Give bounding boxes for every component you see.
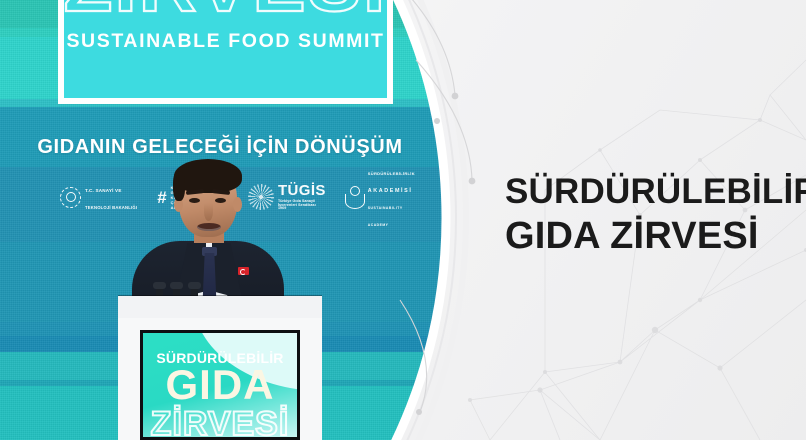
ministry-line-2: TEKNOLOJİ BAKANLIĞI [85, 205, 137, 210]
academy-line-2: AKADEMİSİ [368, 188, 413, 194]
ministry-line-1: T.C. SANAYİ VE [85, 188, 122, 193]
sponsor-logo-sustainability-academy: SÜRDÜRÜLEBİLİRLİK AKADEMİSİ SUSTAINABILI… [344, 163, 415, 230]
backdrop-banner-box: ZİRVESİ SUSTAINABLE FOOD SUMMIT [58, 0, 393, 104]
sponsor-logo-ministry: T.C. SANAYİ VE TEKNOLOJİ BAKANLIĞI [60, 180, 137, 214]
headline-line-2: GIDA ZİRVESİ [505, 215, 795, 258]
podium-top [118, 296, 322, 318]
headline: SÜRDÜRÜLEBİLİR GIDA ZİRVESİ [505, 172, 795, 258]
academy-line-3: SUSTAINABILITY ACADEMY [368, 206, 403, 227]
academy-line-1: SÜRDÜRÜLEBİLİRLİK [368, 171, 415, 176]
tugis-title: TÜGİS [278, 182, 326, 199]
headline-line-1: SÜRDÜRÜLEBİLİR [505, 172, 795, 211]
tugis-line-3: 1969 [278, 207, 326, 211]
banner-subtitle-english: SUSTAINABLE FOOD SUMMIT [64, 30, 387, 53]
banner-title-outline: ZİRVESİ [56, 0, 395, 24]
speaker-nose [204, 203, 213, 221]
person-icon [344, 186, 364, 208]
speaker-mouth [197, 223, 221, 231]
podium-sign: SÜRDÜRÜLEBİLİR GIDA ZİRVESİ [140, 330, 300, 440]
speaker-eye-right [215, 198, 226, 203]
banner-tagline: GIDANIN GELECEĞİ İÇİN DÖNÜŞÜM [0, 136, 440, 159]
podium-sign-line-2: GIDA [143, 363, 297, 407]
speaker-eye-left [189, 198, 200, 203]
news-article-banner-image: ZİRVESİ SUSTAINABLE FOOD SUMMIT GIDANIN … [0, 0, 806, 440]
speaker-hair [174, 159, 242, 193]
podium-sign-line-3: ZİRVESİ [143, 407, 297, 437]
speaker-ear-right [233, 197, 242, 212]
turkish-flag-pin-icon [238, 267, 249, 275]
gear-icon [60, 187, 81, 208]
